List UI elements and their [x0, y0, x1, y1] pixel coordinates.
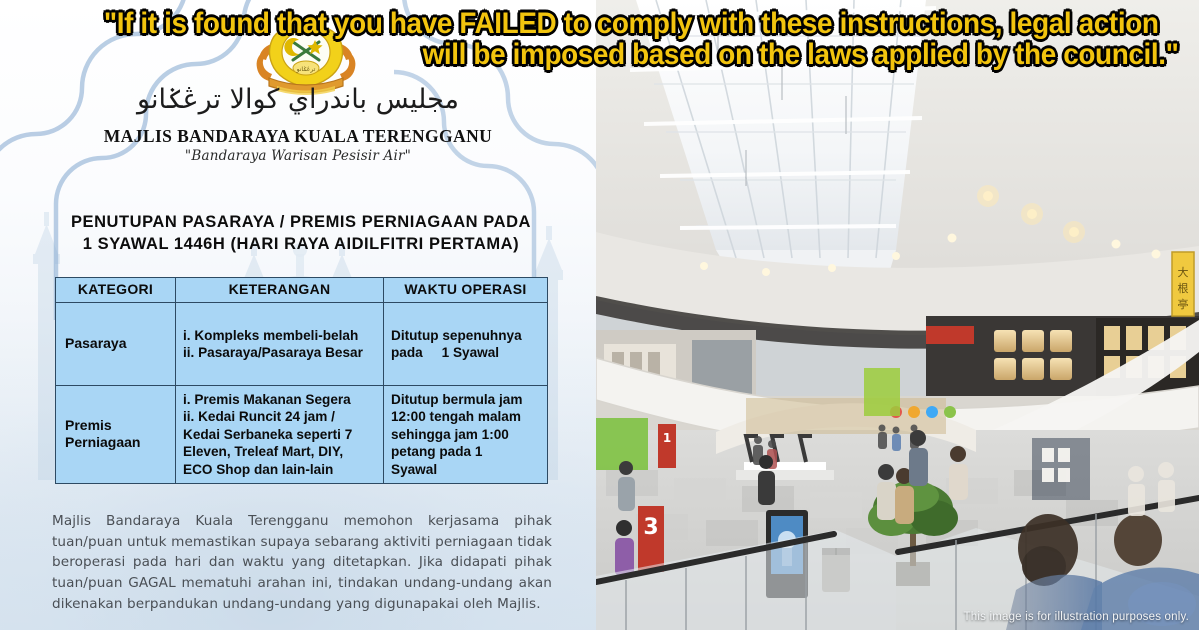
svg-text:3: 3 — [643, 515, 658, 540]
headline-line-2: will be imposed based on the laws applie… — [84, 39, 1179, 70]
svg-text:根: 根 — [1178, 281, 1189, 295]
jawi-council-name: مجليس باندراي كوالا ترڠݢانو — [0, 86, 596, 113]
waktu-line: Ditutup sepenuhnya — [391, 327, 540, 344]
photo-disclaimer-caption: This image is for illustration purposes … — [964, 611, 1189, 623]
cell-keterangan: i. Premis Makanan Segera ii. Kedai Runci… — [176, 386, 384, 484]
waktu-line: pada 1 Syawal — [391, 344, 540, 361]
waktu-line: sehingga jam 1:00 — [391, 426, 540, 443]
mall-interior-illustration: 大 根 亭 — [596, 0, 1199, 630]
waktu-line: 12:00 tengah malam — [391, 408, 540, 425]
keterangan-line: ii. Kedai Runcit 24 jam / — [183, 408, 376, 425]
svg-text:大: 大 — [1178, 265, 1189, 279]
column-header-keterangan: KETERANGAN — [176, 278, 384, 303]
column-header-kategori: KATEGORI — [56, 278, 176, 303]
pillar-sign: 3 — [638, 506, 664, 572]
table-row: Pasaraya i. Kompleks membeli-belah ii. P… — [56, 303, 548, 386]
notice-title-line2: 1 SYAWAL 1446H (HARI RAYA AIDILFITRI PER… — [83, 235, 519, 253]
headline-banner: "If it is found that you have FAILED to … — [84, 8, 1199, 70]
cell-waktu-operasi: Ditutup bermula jam 12:00 tengah malam s… — [384, 386, 548, 484]
column-header-waktu-operasi: WAKTU OPERASI — [384, 278, 548, 303]
poster-root: ترڠݢانو مجليس باندراي كوالا ترڠݢانو MAJL… — [0, 0, 1199, 630]
keterangan-line: Kedai Serbaneka seperti 7 — [183, 426, 376, 443]
keterangan-line: Eleven, Treleaf Mart, DIY, — [183, 443, 376, 460]
cell-keterangan: i. Kompleks membeli-belah ii. Pasaraya/P… — [176, 303, 384, 386]
waktu-line: Ditutup bermula jam — [391, 391, 540, 408]
keterangan-line: i. Premis Makanan Segera — [183, 391, 376, 408]
svg-text:亭: 亭 — [1178, 297, 1189, 311]
cell-kategori: Pasaraya — [56, 303, 176, 386]
svg-text:1: 1 — [663, 431, 671, 445]
cell-kategori: Premis Perniagaan — [56, 386, 176, 484]
notice-title-line1: PENUTUPAN PASARAYA / PREMIS PERNIAGAAN P… — [71, 213, 531, 231]
closure-schedule-table: KATEGORI KETERANGAN WAKTU OPERASI Pasara… — [55, 277, 548, 484]
council-tagline: "Bandaraya Warisan Pesisir Air" — [0, 148, 596, 164]
mall-photo: 大 根 亭 — [596, 0, 1199, 630]
headline-line-1: "If it is found that you have FAILED to … — [84, 8, 1179, 39]
keterangan-line: i. Kompleks membeli-belah — [183, 327, 376, 344]
pillar-sign: 1 — [658, 424, 676, 468]
cell-waktu-operasi: Ditutup sepenuhnya pada 1 Syawal — [384, 303, 548, 386]
notice-panel: ترڠݢانو مجليس باندراي كوالا ترڠݢانو MAJL… — [0, 0, 596, 630]
table-row: Premis Perniagaan i. Premis Makanan Sege… — [56, 386, 548, 484]
waktu-line: Syawal — [391, 461, 540, 478]
keterangan-line: ii. Pasaraya/Pasaraya Besar — [183, 344, 376, 361]
keterangan-line: ECO Shop dan lain-lain — [183, 461, 376, 478]
notice-footer-paragraph: Majlis Bandaraya Kuala Terengganu memoho… — [52, 511, 552, 614]
council-name: MAJLIS BANDARAYA KUALA TERENGGANU — [0, 126, 596, 147]
waktu-line: petang pada 1 — [391, 443, 540, 460]
notice-title: PENUTUPAN PASARAYA / PREMIS PERNIAGAAN P… — [56, 211, 546, 256]
table-header-row: KATEGORI KETERANGAN WAKTU OPERASI — [56, 278, 548, 303]
